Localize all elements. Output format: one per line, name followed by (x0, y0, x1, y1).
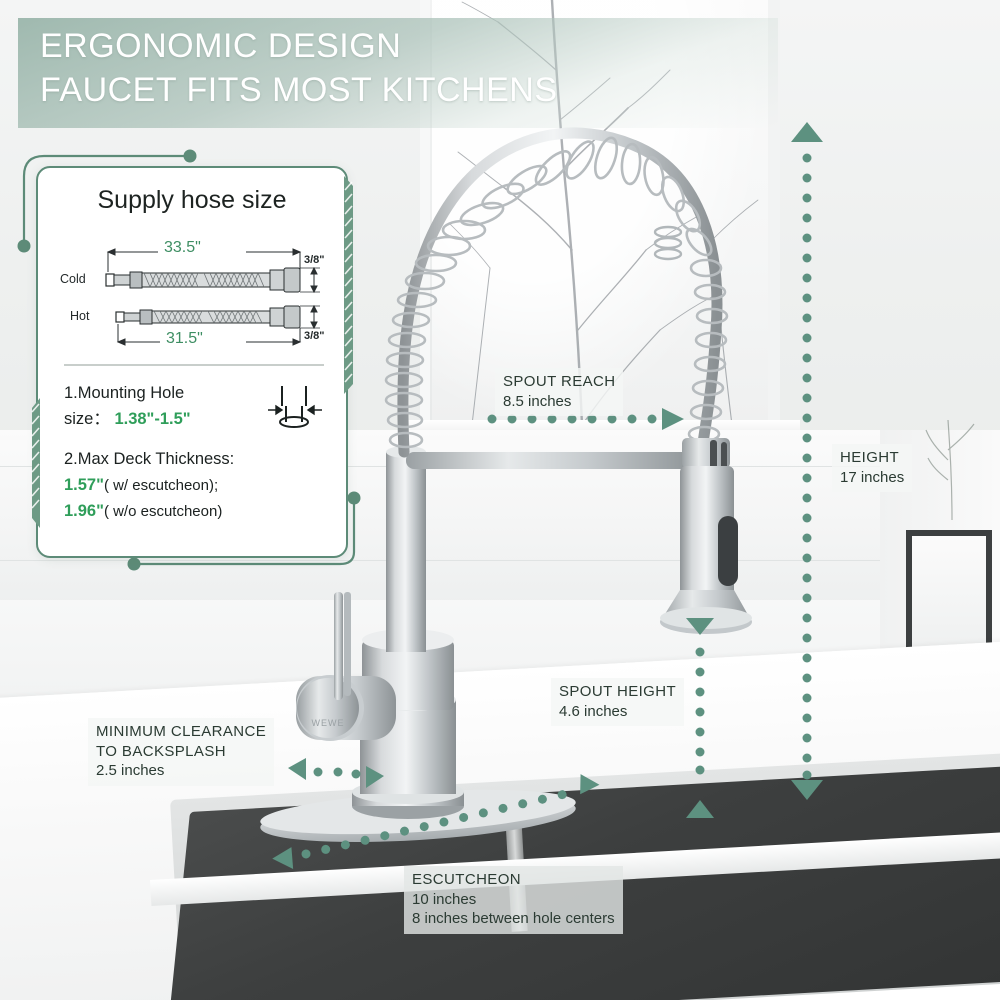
callout-escutcheon: ESCUTCHEON 10 inches 8 inches between ho… (404, 866, 623, 934)
spout-height-title: SPOUT HEIGHT (559, 682, 676, 702)
escutcheon-line (268, 773, 605, 871)
infographic-stage: WEWE (0, 0, 1000, 1000)
spout-reach-title: SPOUT REACH (503, 372, 615, 392)
spout-height-arrow-bottom (686, 800, 714, 818)
min-clearance-arrow-right (366, 766, 384, 788)
min-clearance-arrow-left (288, 758, 306, 780)
escutcheon-value: 10 inches (412, 890, 615, 910)
min-clearance-line (288, 758, 384, 788)
min-clearance-value: 2.5 inches (96, 761, 266, 781)
height-title: HEIGHT (840, 448, 904, 468)
spout-reach-value: 8.5 inches (503, 392, 615, 412)
callout-height: HEIGHT 17 inches (832, 444, 912, 492)
spout-height-value: 4.6 inches (559, 702, 676, 722)
spout-height-line (686, 618, 714, 818)
callout-spout-reach: SPOUT REACH 8.5 inches (495, 368, 623, 416)
height-value: 17 inches (840, 468, 904, 488)
escutcheon-arrow-right (579, 773, 601, 795)
callout-min-clearance: MINIMUM CLEARANCE TO BACKSPLASH 2.5 inch… (88, 718, 274, 786)
height-arrow-top (791, 122, 823, 142)
dimension-lines (0, 0, 1000, 1000)
escutcheon-note: 8 inches between hole centers (412, 909, 615, 929)
height-line (791, 122, 823, 800)
min-clearance-title-1: MINIMUM CLEARANCE (96, 722, 266, 742)
min-clearance-title-2: TO BACKSPLASH (96, 742, 266, 762)
spout-reach-arrow (662, 408, 684, 430)
callout-spout-height: SPOUT HEIGHT 4.6 inches (551, 678, 684, 726)
escutcheon-title: ESCUTCHEON (412, 870, 615, 890)
height-arrow-bottom (791, 780, 823, 800)
spout-height-arrow-top (686, 618, 714, 635)
escutcheon-arrow-left (271, 847, 293, 871)
